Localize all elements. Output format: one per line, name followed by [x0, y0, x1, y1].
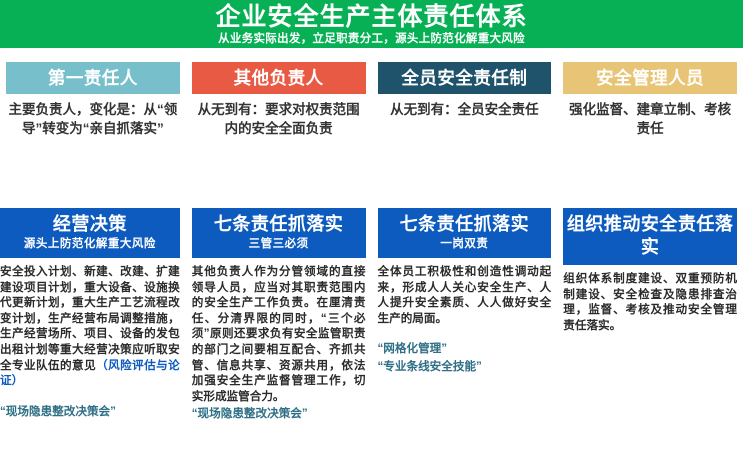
detail-card-2: 七条责任抓落实 三管三必须 其他负责人作为分管领域的直接领导人员，应当对其职责范… — [186, 208, 372, 422]
detail-quote-3-1: “网格化管理” — [378, 341, 552, 357]
detail-body-text-4: 组织体系制度建设、双重预防机制建设、安全检查及隐患排查治理，监督、考核及推动安全… — [563, 272, 737, 332]
detail-subtitle-1: 源头上防范化解重大风险 — [2, 236, 178, 252]
detail-body-text-3: 全体员工积极性和创造性调动起来，形成人人关心安全生产、人人提升安全素质、人人做好… — [378, 265, 552, 325]
detail-body-3: 全体员工积极性和创造性调动起来，形成人人关心安全生产、人人提升安全素质、人人做好… — [378, 264, 552, 326]
role-description-1: 主要负责人，变化是：从“领导”转变为“亲自抓落实” — [6, 100, 180, 138]
detail-spacer-3 — [378, 326, 552, 339]
detail-quote-1-1: “现场隐患整改决策会” — [0, 404, 180, 420]
role-chip-2[interactable]: 其他负责人 — [192, 62, 366, 94]
detail-card-4: 组织推动安全责任落实 组织体系制度建设、双重预防机制建设、安全检查及隐患排查治理… — [557, 208, 743, 422]
detail-body-4: 组织体系制度建设、双重预防机制建设、安全检查及隐患排查治理，监督、考核及推动安全… — [563, 271, 737, 333]
detail-subtitle-2: 三管三必须 — [194, 236, 364, 252]
detail-quote-2-1: “现场隐患整改决策会” — [192, 406, 366, 422]
role-card-2: 其他负责人 从无到有：要求对权责范围内的安全全面负责 — [186, 62, 372, 138]
detail-card-1: 经营决策 源头上防范化解重大风险 安全投入计划、新建、改建、扩建建设项目计划，重… — [0, 208, 186, 422]
detail-title-3: 七条责任抓落实 — [380, 213, 550, 236]
role-description-4: 强化监督、建章立制、考核责任 — [563, 100, 737, 138]
page-title: 企业安全生产主体责任体系 — [0, 3, 743, 32]
detail-spacer-1 — [0, 389, 180, 402]
role-card-4: 安全管理人员 强化监督、建章立制、考核责任 — [557, 62, 743, 138]
detail-body-1: 安全投入计划、新建、改建、扩建建设项目计划，重大设备、设施换代更新计划，重大生产… — [0, 264, 180, 389]
role-description-3: 从无到有：全员安全责任 — [378, 100, 552, 119]
detail-header-3[interactable]: 七条责任抓落实 一岗双责 — [378, 208, 552, 258]
role-chip-4[interactable]: 安全管理人员 — [563, 62, 737, 94]
detail-card-row: 经营决策 源头上防范化解重大风险 安全投入计划、新建、改建、扩建建设项目计划，重… — [0, 208, 743, 422]
role-chip-3[interactable]: 全员安全责任制 — [378, 62, 552, 94]
detail-title-4: 组织推动安全责任落实 — [565, 213, 735, 259]
role-card-1: 第一责任人 主要负责人，变化是：从“领导”转变为“亲自抓落实” — [0, 62, 186, 138]
detail-body-text-1: 安全投入计划、新建、改建、扩建建设项目计划，重大设备、设施换代更新计划，重大生产… — [0, 265, 180, 372]
role-card-3: 全员安全责任制 从无到有：全员安全责任 — [372, 62, 558, 138]
detail-body-2: 其他负责人作为分管领域的直接领导人员，应当对其职责范围内的安全生产工作负责。在厘… — [192, 264, 366, 404]
detail-title-1: 经营决策 — [2, 213, 178, 236]
page-banner: 企业安全生产主体责任体系 从业务实际出发，立足职责分工，源头上防范化解重大风险 — [0, 0, 743, 48]
role-description-2: 从无到有：要求对权责范围内的安全全面负责 — [192, 100, 366, 138]
role-chip-1[interactable]: 第一责任人 — [6, 62, 180, 94]
detail-header-1[interactable]: 经营决策 源头上防范化解重大风险 — [0, 208, 180, 258]
detail-header-4[interactable]: 组织推动安全责任落实 — [563, 208, 737, 265]
detail-header-2[interactable]: 七条责任抓落实 三管三必须 — [192, 208, 366, 258]
detail-subtitle-3: 一岗双责 — [380, 236, 550, 252]
detail-quote-3-2: “专业条线安全技能” — [378, 359, 552, 375]
detail-card-3: 七条责任抓落实 一岗双责 全体员工积极性和创造性调动起来，形成人人关心安全生产、… — [372, 208, 558, 422]
detail-body-post-2: 在厘清责任、分清界限的同时，“三个必须”原则还要求负有安全监管职责的部门之间要相… — [192, 296, 366, 403]
detail-title-2: 七条责任抓落实 — [194, 213, 364, 236]
role-card-row: 第一责任人 主要负责人，变化是：从“领导”转变为“亲自抓落实” 其他负责人 从无… — [0, 62, 743, 138]
page-subtitle: 从业务实际出发，立足职责分工，源头上防范化解重大风险 — [0, 32, 743, 47]
